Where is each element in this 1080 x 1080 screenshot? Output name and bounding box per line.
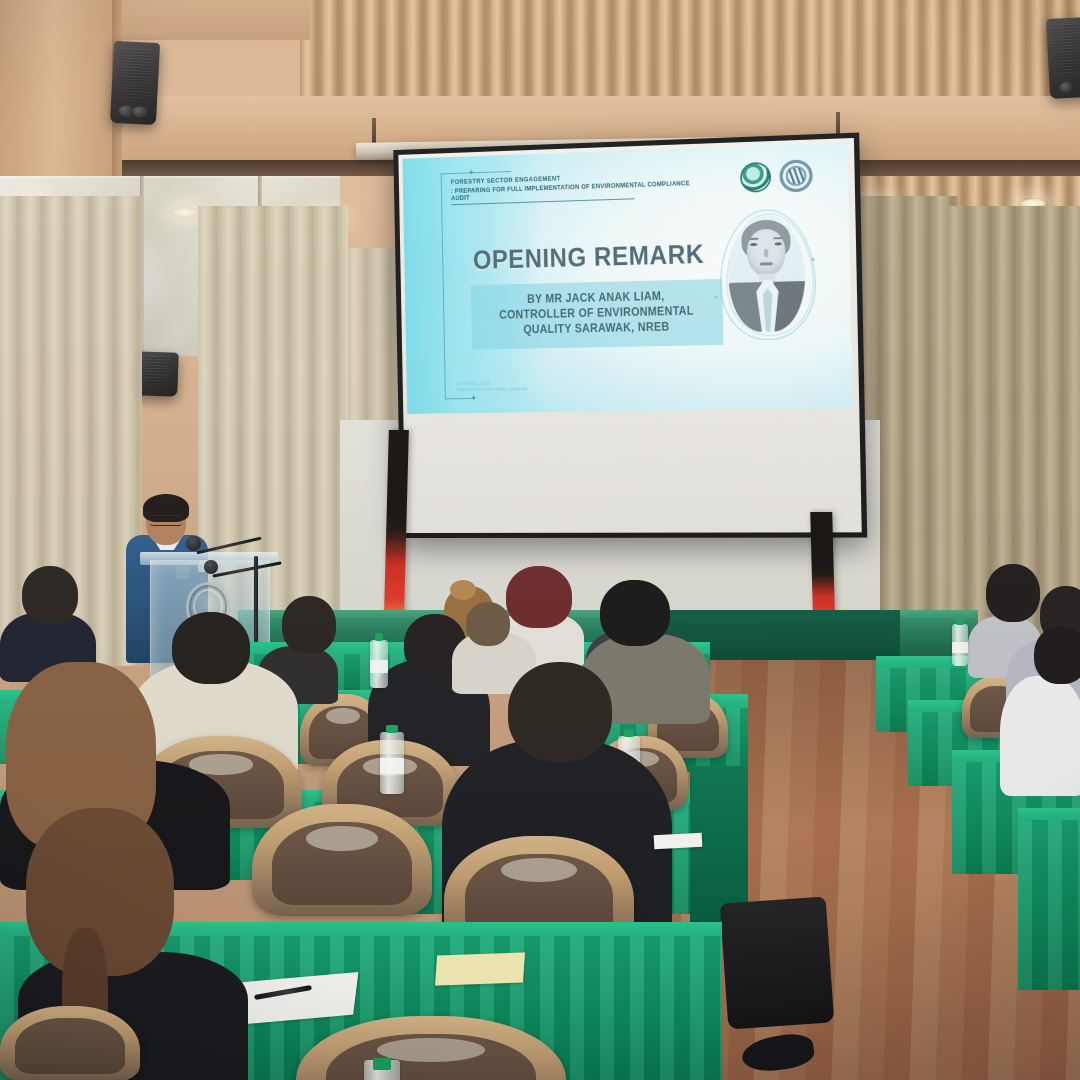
department-logo-icon — [779, 159, 813, 192]
slide-portrait — [717, 206, 817, 343]
conference-hall-scene: + + FORESTRY SECTOR ENGAGEMENT : PREPARI… — [0, 0, 1080, 1080]
handout-paper — [654, 833, 703, 849]
water-bottle — [370, 640, 388, 688]
projection-screen: + + FORESTRY SECTOR ENGAGEMENT : PREPARI… — [393, 133, 867, 538]
wall-speaker-left — [110, 41, 160, 125]
water-bottle — [364, 1060, 400, 1080]
slide-subtitle-box: BY MR JACK ANAK LIAM, CONTROLLER OF ENVI… — [471, 279, 724, 350]
water-bottle — [380, 732, 404, 794]
chair — [0, 1006, 140, 1080]
nreb-logo-icon — [740, 162, 771, 193]
slide-footer: 22 APRIL 2025 imperial hotel kuching, sa… — [457, 378, 651, 393]
presenter-glasses-icon — [150, 515, 182, 526]
slide-plus-tick-bottom: + — [471, 394, 476, 403]
water-bottle — [952, 624, 968, 666]
yellow-card — [435, 952, 525, 985]
slide-plus-tick-top: + — [469, 168, 474, 177]
chair — [252, 804, 432, 916]
slide-subtitle-line3: QUALITY SARAWAK, NREB — [489, 320, 704, 340]
table-right-front — [1018, 820, 1080, 990]
microphone-head-1 — [186, 536, 201, 551]
slide-title: OPENING REMARK — [473, 238, 705, 276]
ceiling-downlight — [170, 207, 200, 218]
backpack — [720, 896, 835, 1029]
microphone-head-2 — [204, 560, 218, 574]
presentation-slide: + + FORESTRY SECTOR ENGAGEMENT : PREPARI… — [402, 142, 852, 414]
wall-speaker-right — [1046, 17, 1080, 99]
